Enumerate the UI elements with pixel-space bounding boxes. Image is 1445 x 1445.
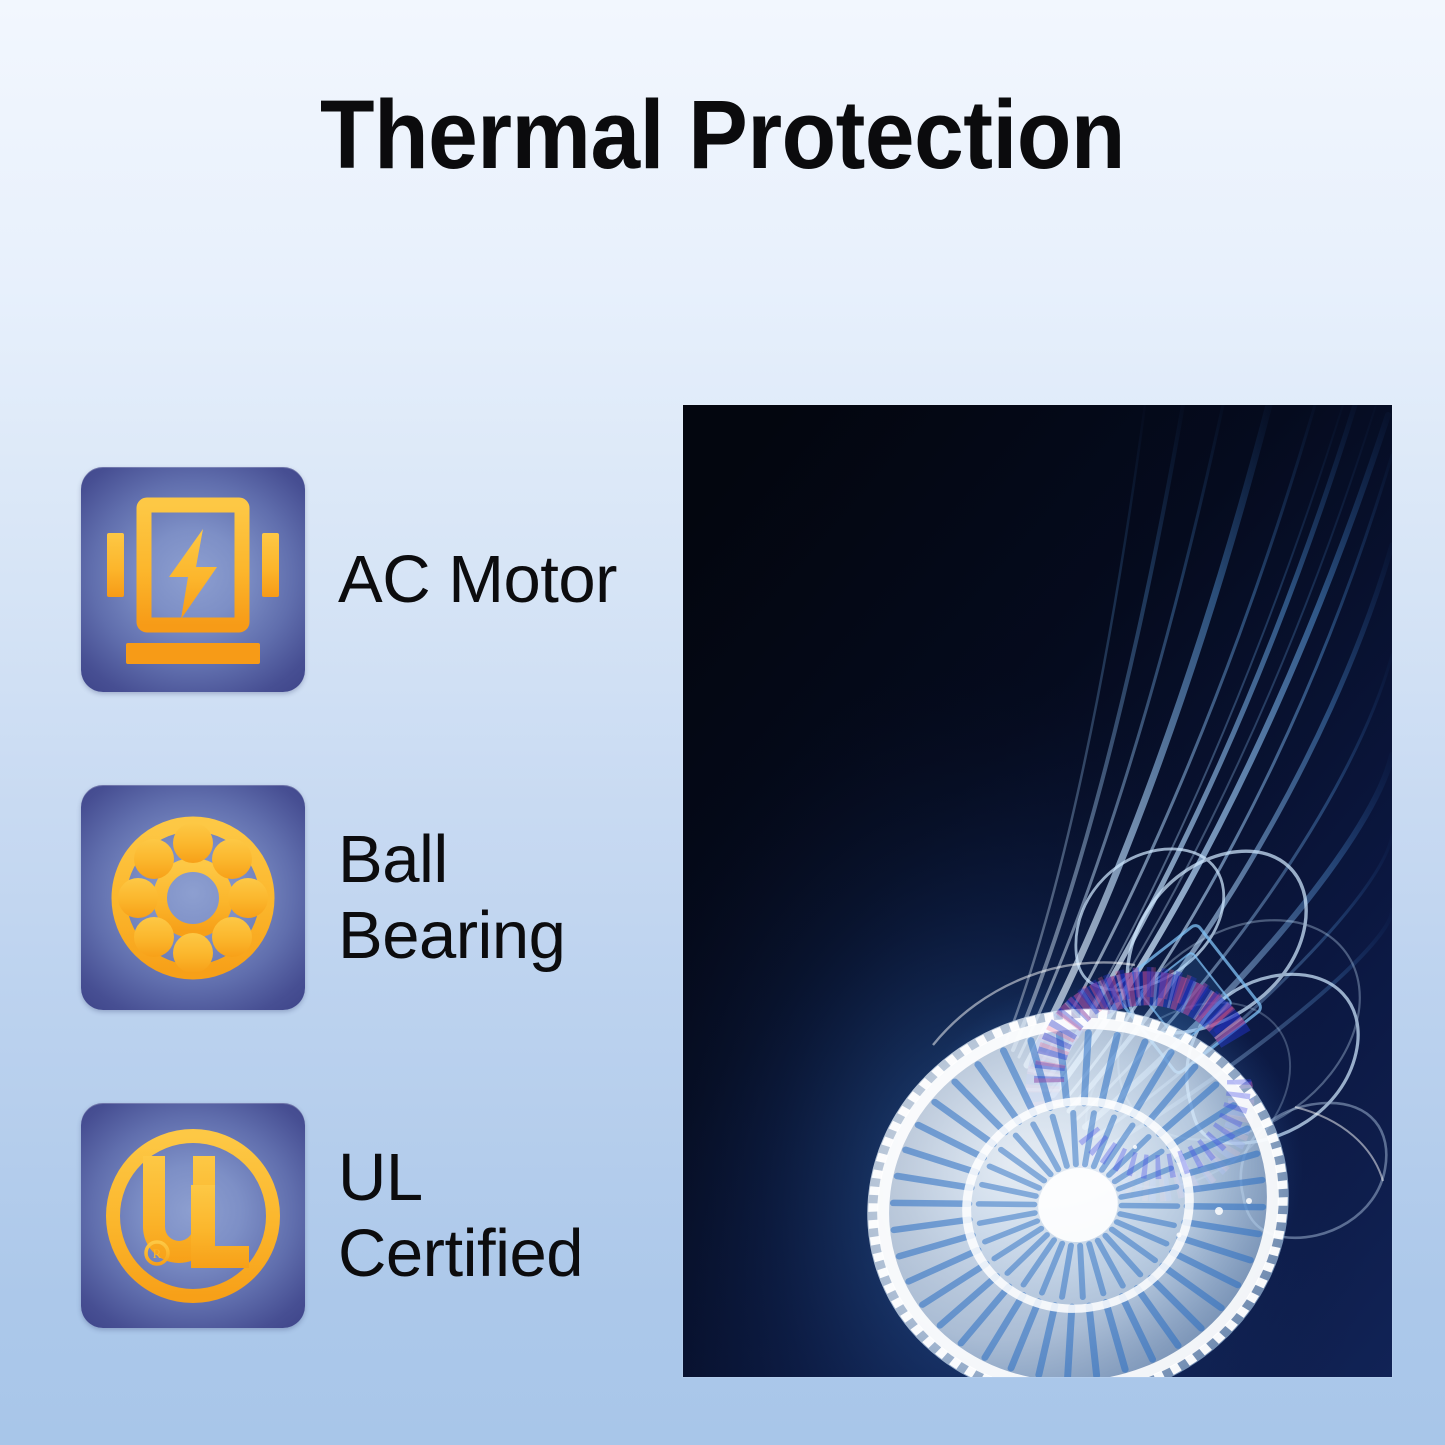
product-image-scene — [683, 405, 1392, 1377]
ball-bearing-icon-tile — [81, 785, 305, 1010]
page-title: Thermal Protection — [58, 84, 1387, 186]
feature-item-ball-bearing: Ball Bearing — [81, 785, 641, 1010]
feature-item-ac-motor: AC Motor — [81, 467, 641, 692]
feature-item-ul-certified: R UL Certified — [81, 1103, 641, 1328]
feature-label-ac-motor: AC Motor — [338, 542, 617, 618]
fan-motor-xray-illustration — [683, 405, 1392, 1377]
ul-certified-icon-tile: R — [81, 1103, 305, 1328]
feature-label-ul-certified: UL Certified — [338, 1140, 583, 1291]
ac-motor-icon — [81, 467, 305, 692]
ac-motor-icon-tile — [81, 467, 305, 692]
ball-bearing-icon — [81, 785, 305, 1010]
feature-list: AC Motor — [81, 467, 641, 1328]
ul-certified-icon: R — [81, 1103, 305, 1328]
feature-label-ball-bearing: Ball Bearing — [338, 822, 565, 973]
feature-infographic-page: Thermal Protection — [0, 0, 1445, 1445]
product-image — [683, 405, 1392, 1377]
svg-text:R: R — [153, 1246, 162, 1261]
